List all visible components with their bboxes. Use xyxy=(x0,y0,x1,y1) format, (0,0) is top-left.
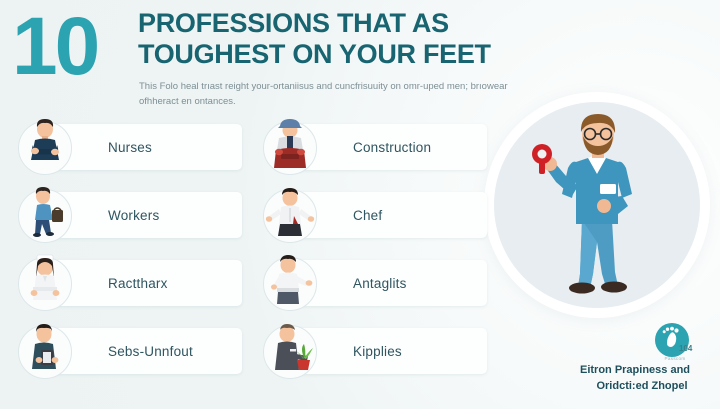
list-item[interactable]: Sebs-Unnfout xyxy=(18,328,242,374)
person-nurse-cap-icon xyxy=(18,257,72,311)
footer-caption: Eitron Prapiness and Oridcti:ed Zhopel xyxy=(555,363,715,395)
profession-label: Nurses xyxy=(108,140,152,155)
list-item[interactable]: Workers xyxy=(18,192,242,238)
list-item[interactable]: Nurses xyxy=(18,124,242,170)
page-title: PROFESSIONS THAT AS TOUGHEST ON YOUR FEE… xyxy=(138,8,538,70)
page-subtitle: This Folo heal trıast reight your-ortani… xyxy=(139,80,511,109)
headline-number: 10 xyxy=(12,6,97,88)
badge-number: 104 xyxy=(679,344,692,353)
list-item[interactable]: Construction xyxy=(263,124,487,170)
person-chef-arms-open-icon xyxy=(263,189,317,243)
profession-list-left: Nurses Workers xyxy=(18,124,242,396)
person-arms-crossed-scrubs-icon xyxy=(18,121,72,175)
profession-list-right: Construction Chef xyxy=(263,124,487,396)
list-item[interactable]: Racttharx xyxy=(18,260,242,306)
profession-label: Chef xyxy=(353,208,382,223)
profession-label: Workers xyxy=(108,208,159,223)
person-pointing-icon xyxy=(263,257,317,311)
person-hardhat-toolbag-icon xyxy=(263,121,317,175)
profession-label: Antaglits xyxy=(353,276,407,291)
person-walking-with-bag-icon xyxy=(18,189,72,243)
footer-line-2: Oridcti:ed Zhopel xyxy=(555,379,715,395)
list-item[interactable]: Antaglits xyxy=(263,260,487,306)
male-nurse-blue-scrubs-holding-red-object-icon xyxy=(494,102,700,308)
badge-caption: Passcom xyxy=(655,356,695,361)
person-holding-plant-icon xyxy=(263,325,317,379)
profession-label: Racttharx xyxy=(108,276,168,291)
profession-label: Construction xyxy=(353,140,431,155)
footer-line-1: Eitron Prapiness and xyxy=(555,363,715,379)
profession-label: Sebs-Unnfout xyxy=(108,344,193,359)
infographic-canvas: 10 PROFESSIONS THAT AS TOUGHEST ON YOUR … xyxy=(0,0,720,409)
list-item[interactable]: Chef xyxy=(263,192,487,238)
person-holding-clipboard-icon xyxy=(18,325,72,379)
list-item[interactable]: Kipplies xyxy=(263,328,487,374)
profession-label: Kipplies xyxy=(353,344,402,359)
